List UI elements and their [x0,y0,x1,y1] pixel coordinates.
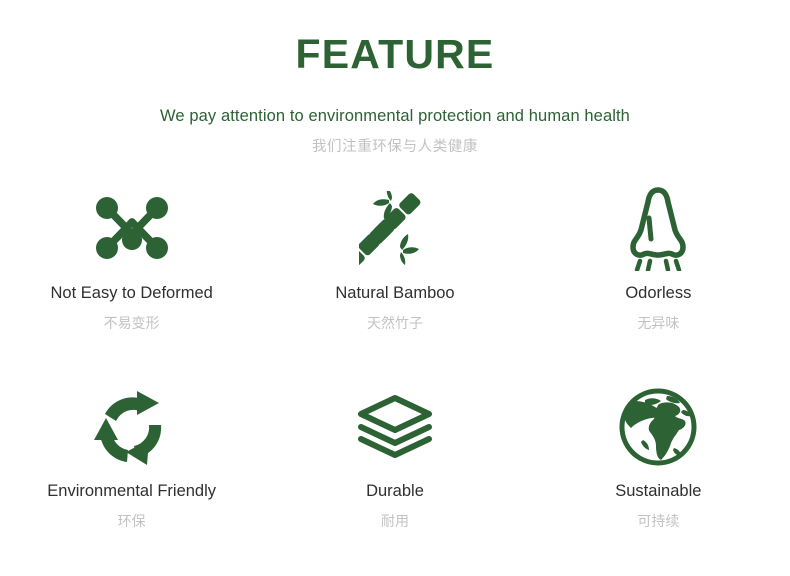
layers-stack-icon [356,378,434,476]
feature-card-environmental-friendly: Environmental Friendly 环保 [0,372,263,568]
section-header: FEATURE We pay attention to environmenta… [0,0,790,156]
feature-card-sustainable: Sustainable 可持续 [527,372,790,568]
feature-label-cn: 可持续 [637,513,679,530]
feature-card-durable: Durable 耐用 [263,372,526,568]
feature-label-en: Odorless [625,284,691,304]
feature-label-en: Not Easy to Deformed [51,284,213,304]
page-title: FEATURE [0,34,790,75]
feature-section: FEATURE We pay attention to environmenta… [0,0,790,576]
nose-icon [625,182,691,274]
subtitle-chinese: 我们注重环保与人类健康 [0,139,790,156]
network-nodes-icon [94,182,170,274]
subtitle-english: We pay attention to environmental protec… [0,107,790,127]
feature-label-cn: 环保 [118,513,146,530]
recycle-icon [93,378,171,476]
feature-card-odorless: Odorless 无异味 [527,176,790,372]
globe-leaf-icon [619,378,697,476]
feature-card-not-easy-to-deformed: Not Easy to Deformed 不易变形 [0,176,263,372]
feature-label-en: Durable [366,482,424,502]
feature-label-cn: 耐用 [381,513,409,530]
feature-label-cn: 无异味 [637,315,679,332]
feature-label-en: Environmental Friendly [47,482,216,502]
features-grid: Not Easy to Deformed 不易变形 [0,176,790,568]
bamboo-icon [359,182,431,274]
feature-label-en: Natural Bamboo [335,284,454,304]
feature-label-en: Sustainable [615,482,701,502]
feature-card-natural-bamboo: Natural Bamboo 天然竹子 [263,176,526,372]
feature-label-cn: 天然竹子 [367,315,423,332]
feature-label-cn: 不易变形 [104,315,160,332]
